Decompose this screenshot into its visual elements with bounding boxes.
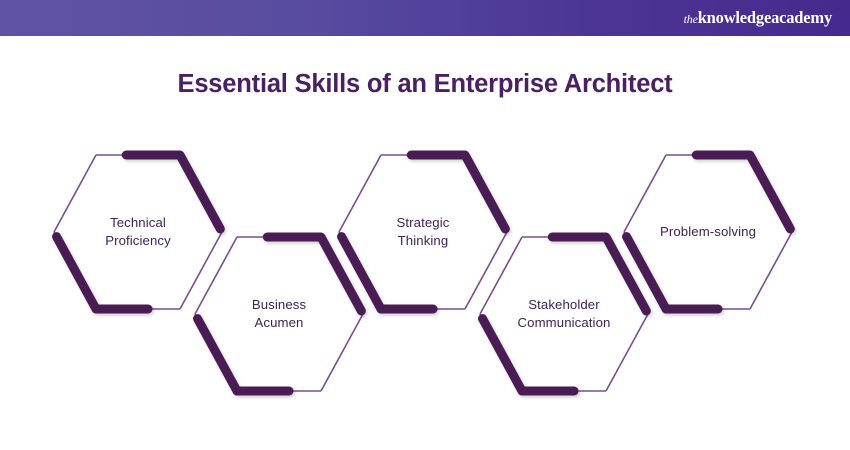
hexagon-shape	[195, 237, 363, 391]
page-title: Essential Skills of an Enterprise Archit…	[0, 70, 850, 99]
hexagon-diagram: TechnicalProficiencyBusinessAcumenStrate…	[0, 130, 850, 420]
brand-name-text: knowledgeacademy	[698, 8, 832, 27]
hexagon-2[interactable]: BusinessAcumen	[195, 237, 363, 391]
hexagon-shape	[624, 155, 792, 309]
hexagon-4[interactable]: StakeholderCommunication	[480, 237, 648, 391]
brand-logo: theknowledgeacademy	[684, 10, 832, 27]
page-header: theknowledgeacademy	[0, 0, 850, 36]
hexagon-shape	[480, 237, 648, 391]
brand-prefix-text: the	[684, 12, 698, 26]
hexagon-5[interactable]: Problem-solving	[624, 155, 792, 309]
